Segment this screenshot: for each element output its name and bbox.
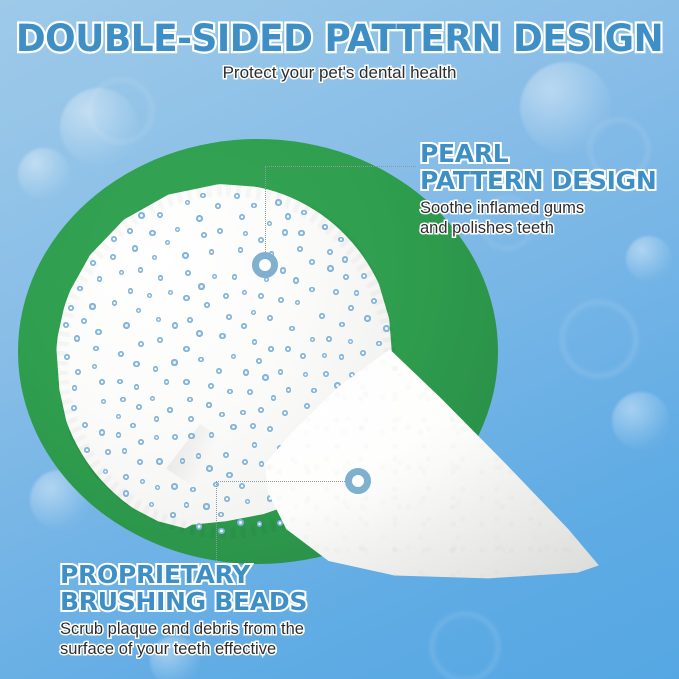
- pearl-dot: [348, 305, 354, 311]
- pearl-dot: [238, 247, 244, 253]
- pearl-dot: [103, 469, 108, 474]
- pearl-dot: [170, 512, 175, 517]
- pearl-dot: [227, 389, 233, 395]
- pearl-dot: [252, 442, 257, 447]
- pearl-dot: [134, 384, 139, 389]
- pearl-dot: [208, 383, 214, 389]
- pearl-dot: [172, 322, 178, 328]
- leader-line-pearl-vertical: [265, 166, 266, 258]
- pearl-dot: [116, 432, 122, 438]
- pearl-dot: [171, 359, 177, 365]
- pearl-dot: [196, 523, 202, 529]
- pearl-dot: [285, 346, 292, 353]
- pearl-dot: [183, 346, 189, 352]
- pearl-dot: [258, 237, 264, 243]
- pearl-dot: [123, 322, 130, 329]
- pearl-dot: [190, 487, 196, 493]
- pearl-dot: [140, 479, 145, 484]
- pearl-dot: [271, 395, 277, 401]
- leader-line-beads-horizontal: [216, 481, 349, 482]
- pearl-dot: [348, 339, 354, 345]
- pearl-dot: [198, 357, 204, 363]
- pearl-dot: [138, 439, 144, 445]
- pearl-dot: [303, 372, 309, 378]
- pearl-dot: [259, 461, 265, 467]
- pearl-dot: [262, 374, 269, 381]
- page-subtitle: Protect your pet's dental health: [0, 63, 679, 83]
- pearl-dot: [275, 199, 282, 206]
- pearl-dot: [293, 277, 300, 284]
- pearl-dot: [99, 429, 106, 436]
- pearl-dot: [89, 303, 95, 309]
- pearl-dot: [63, 322, 69, 328]
- callout-pearl-body: Soothe inflamed gums and polishes teeth: [420, 198, 676, 238]
- pearl-dot: [112, 300, 118, 306]
- pearl-dot: [206, 402, 212, 408]
- pearl-dot: [136, 404, 142, 410]
- pearl-dot: [304, 403, 310, 409]
- pearl-dot: [219, 412, 225, 418]
- pearl-dot: [300, 353, 306, 359]
- pearl-dot: [224, 496, 230, 502]
- pearl-dot: [319, 313, 325, 319]
- pearl-dot: [82, 422, 88, 428]
- pearl-dot: [232, 274, 238, 280]
- pearl-dot: [185, 270, 191, 276]
- callout-marker-beads-icon: [345, 468, 371, 494]
- pearl-dot: [196, 330, 203, 337]
- pearl-dot: [309, 287, 314, 292]
- background-bubble: [60, 88, 138, 166]
- pearl-dot: [364, 315, 371, 322]
- pearl-dot: [188, 416, 194, 422]
- callout-brushing-beads: PROPRIETARY BRUSHING BEADS Scrub plaque …: [60, 562, 390, 659]
- pearl-dot: [182, 252, 189, 259]
- pearl-dot: [241, 323, 247, 329]
- pearl-dot: [156, 458, 163, 465]
- page-title: DOUBLE-SIDED PATTERN DESIGN: [10, 0, 669, 59]
- pearl-dot: [198, 283, 204, 289]
- pearl-dot: [111, 236, 117, 242]
- leader-line-pearl-horizontal: [265, 166, 416, 167]
- pearl-dot: [71, 405, 77, 411]
- pearl-dot: [110, 254, 116, 260]
- pearl-dot: [132, 245, 139, 252]
- pearl-dot: [123, 474, 129, 480]
- pearl-dot: [267, 221, 272, 226]
- pearl-dot: [298, 230, 304, 236]
- pearl-dot: [90, 260, 96, 266]
- pearl-dot: [172, 434, 179, 441]
- pearl-dot: [242, 459, 249, 466]
- pearl-dot: [196, 215, 203, 222]
- pearl-dot: [203, 503, 209, 509]
- pearl-dot: [75, 369, 81, 375]
- pearl-dot: [338, 237, 343, 242]
- pearl-dot: [150, 396, 156, 402]
- pearl-dot: [247, 389, 253, 395]
- pearl-dot: [74, 335, 80, 341]
- pearl-dot: [339, 322, 345, 328]
- pearl-dot: [184, 502, 189, 507]
- callout-pearl-title: PEARL PATTERN DESIGN: [420, 141, 676, 194]
- callout-marker-pearl-icon: [252, 252, 278, 278]
- pearl-dot: [149, 230, 156, 237]
- pearl-dot: [77, 286, 83, 292]
- pearl-dot: [164, 379, 169, 384]
- pearl-dot: [153, 366, 158, 371]
- pearl-dot: [240, 410, 246, 416]
- pearl-dot: [154, 416, 159, 421]
- pearl-dot: [187, 317, 193, 323]
- pearl-dot: [156, 317, 161, 322]
- pearl-dot: [118, 351, 124, 357]
- pearl-dot: [327, 265, 334, 272]
- pearl-dot: [133, 361, 139, 367]
- pearl-dot: [138, 212, 145, 219]
- pearl-dot: [376, 341, 382, 347]
- pearl-dot: [171, 483, 178, 490]
- pearl-dot: [97, 276, 102, 281]
- pearl-dot: [187, 397, 193, 403]
- pearl-dot: [245, 499, 250, 504]
- pearl-dot: [301, 210, 306, 215]
- pearl-dot: [218, 512, 223, 517]
- pearl-dot: [257, 521, 263, 527]
- pearl-dot: [310, 337, 315, 342]
- pearl-dot: [99, 379, 105, 385]
- pearl-dot: [201, 232, 207, 238]
- header-block: DOUBLE-SIDED PATTERN DESIGN Protect your…: [0, 0, 679, 83]
- pearl-dot: [360, 350, 366, 356]
- pearl-dot: [252, 339, 257, 344]
- pearl-dot: [361, 273, 367, 279]
- pearl-dot: [285, 213, 292, 220]
- background-bubble: [430, 612, 500, 679]
- pearl-dot: [223, 293, 229, 299]
- pearl-dot: [243, 369, 249, 375]
- pearl-dot: [92, 364, 98, 370]
- pearl-dot: [342, 256, 348, 262]
- pearl-dot: [204, 302, 210, 308]
- pearl-dot: [68, 305, 74, 311]
- pearl-dot: [127, 228, 133, 234]
- pearl-dot: [295, 300, 300, 305]
- pearl-dot: [105, 449, 111, 455]
- pearl-dot: [280, 267, 286, 273]
- pearl-dot: [200, 193, 206, 199]
- pearl-dot: [122, 448, 128, 454]
- callout-pearl-pattern: PEARL PATTERN DESIGN Soothe inflamed gum…: [420, 141, 676, 238]
- pearl-dot: [234, 193, 240, 199]
- pearl-dot: [239, 214, 245, 220]
- pearl-dot: [333, 289, 339, 295]
- pearl-dot: [327, 249, 333, 255]
- pearl-dot: [101, 399, 106, 404]
- pearl-dot: [268, 346, 274, 352]
- pearl-dot: [226, 472, 233, 479]
- pearl-dot: [278, 369, 284, 375]
- pearl-dot: [243, 231, 248, 236]
- pearl-dot: [158, 275, 164, 281]
- pearl-dot: [322, 353, 327, 358]
- pearl-dot: [137, 459, 143, 465]
- pearl-dot: [309, 259, 315, 265]
- product-infographic: DOUBLE-SIDED PATTERN DESIGN Protect your…: [0, 0, 679, 679]
- pearl-dot: [157, 212, 163, 218]
- pearl-dot: [149, 502, 154, 507]
- pearl-dot: [242, 290, 247, 295]
- pearl-dot: [251, 203, 256, 208]
- background-bubble: [612, 392, 670, 450]
- pearl-dot: [218, 528, 224, 534]
- pearl-dot: [258, 407, 264, 413]
- pearl-dot: [123, 490, 130, 497]
- pearl-dot: [383, 325, 389, 331]
- pearl-dot: [183, 295, 189, 301]
- pearl-dot: [95, 329, 101, 335]
- callout-beads-body: Scrub plaque and debris from the surface…: [60, 619, 390, 659]
- pearl-dot: [239, 483, 245, 489]
- pearl-dot: [185, 200, 191, 206]
- pearl-dot: [250, 423, 256, 429]
- pearl-dot: [154, 435, 160, 441]
- pearl-dot: [339, 354, 345, 360]
- pearl-dot: [138, 341, 144, 347]
- pearl-dot: [147, 293, 153, 299]
- pearl-dot: [136, 308, 141, 313]
- pearl-dot: [267, 426, 273, 432]
- pearl-dot: [256, 358, 262, 364]
- pearl-dot: [230, 424, 237, 431]
- pearl-dot: [157, 337, 163, 343]
- pearl-dot: [258, 293, 264, 299]
- pearl-dot: [322, 224, 327, 229]
- pearl-dot: [116, 414, 121, 419]
- pearl-dot: [128, 288, 134, 294]
- pearl-dot: [215, 203, 221, 209]
- pearl-dot: [212, 274, 217, 279]
- pearl-dot: [152, 255, 157, 260]
- pearl-dot: [282, 410, 288, 416]
- pearl-dot: [237, 519, 244, 526]
- pearl-dot: [343, 274, 349, 280]
- pearl-dot: [326, 336, 332, 342]
- pearl-dot: [226, 314, 232, 320]
- pearl-dot: [289, 326, 295, 332]
- pearl-dot: [93, 346, 99, 352]
- background-bubble: [560, 300, 638, 378]
- pearl-dot: [277, 520, 283, 526]
- pearl-dot: [175, 227, 180, 232]
- pearl-dot: [130, 423, 136, 429]
- pearl-dot: [72, 385, 78, 391]
- pearl-dot: [81, 318, 87, 324]
- pearl-dot: [217, 228, 223, 234]
- pearl-dot: [209, 249, 214, 254]
- pearl-dot: [297, 246, 303, 252]
- pearl-dot: [84, 447, 90, 453]
- pearl-dot: [371, 298, 377, 304]
- pearl-dot: [119, 270, 124, 275]
- pearl-dot: [216, 368, 222, 374]
- pearl-dot: [267, 315, 273, 321]
- pearl-dot: [278, 297, 284, 303]
- pearl-dot: [165, 240, 170, 245]
- pearl-dot: [167, 407, 173, 413]
- pearl-dot: [120, 397, 126, 403]
- pearl-dot: [286, 387, 292, 393]
- pearl-dot: [323, 371, 329, 377]
- pearl-dot: [354, 290, 360, 296]
- pearl-dot: [311, 388, 317, 394]
- pearl-dot: [282, 229, 288, 235]
- pearl-dot: [138, 267, 144, 273]
- pearl-dot: [168, 290, 173, 295]
- pearl-dot: [155, 485, 160, 490]
- background-bubble: [88, 78, 154, 144]
- pearl-dot: [231, 354, 236, 359]
- background-bubble: [626, 236, 672, 282]
- callout-beads-title: PROPRIETARY BRUSHING BEADS: [60, 562, 390, 615]
- pearl-dot: [251, 310, 256, 315]
- pearl-dot: [219, 333, 226, 340]
- pearl-dot: [183, 379, 189, 385]
- pearl-dot: [64, 354, 70, 360]
- pearl-dot: [117, 379, 123, 385]
